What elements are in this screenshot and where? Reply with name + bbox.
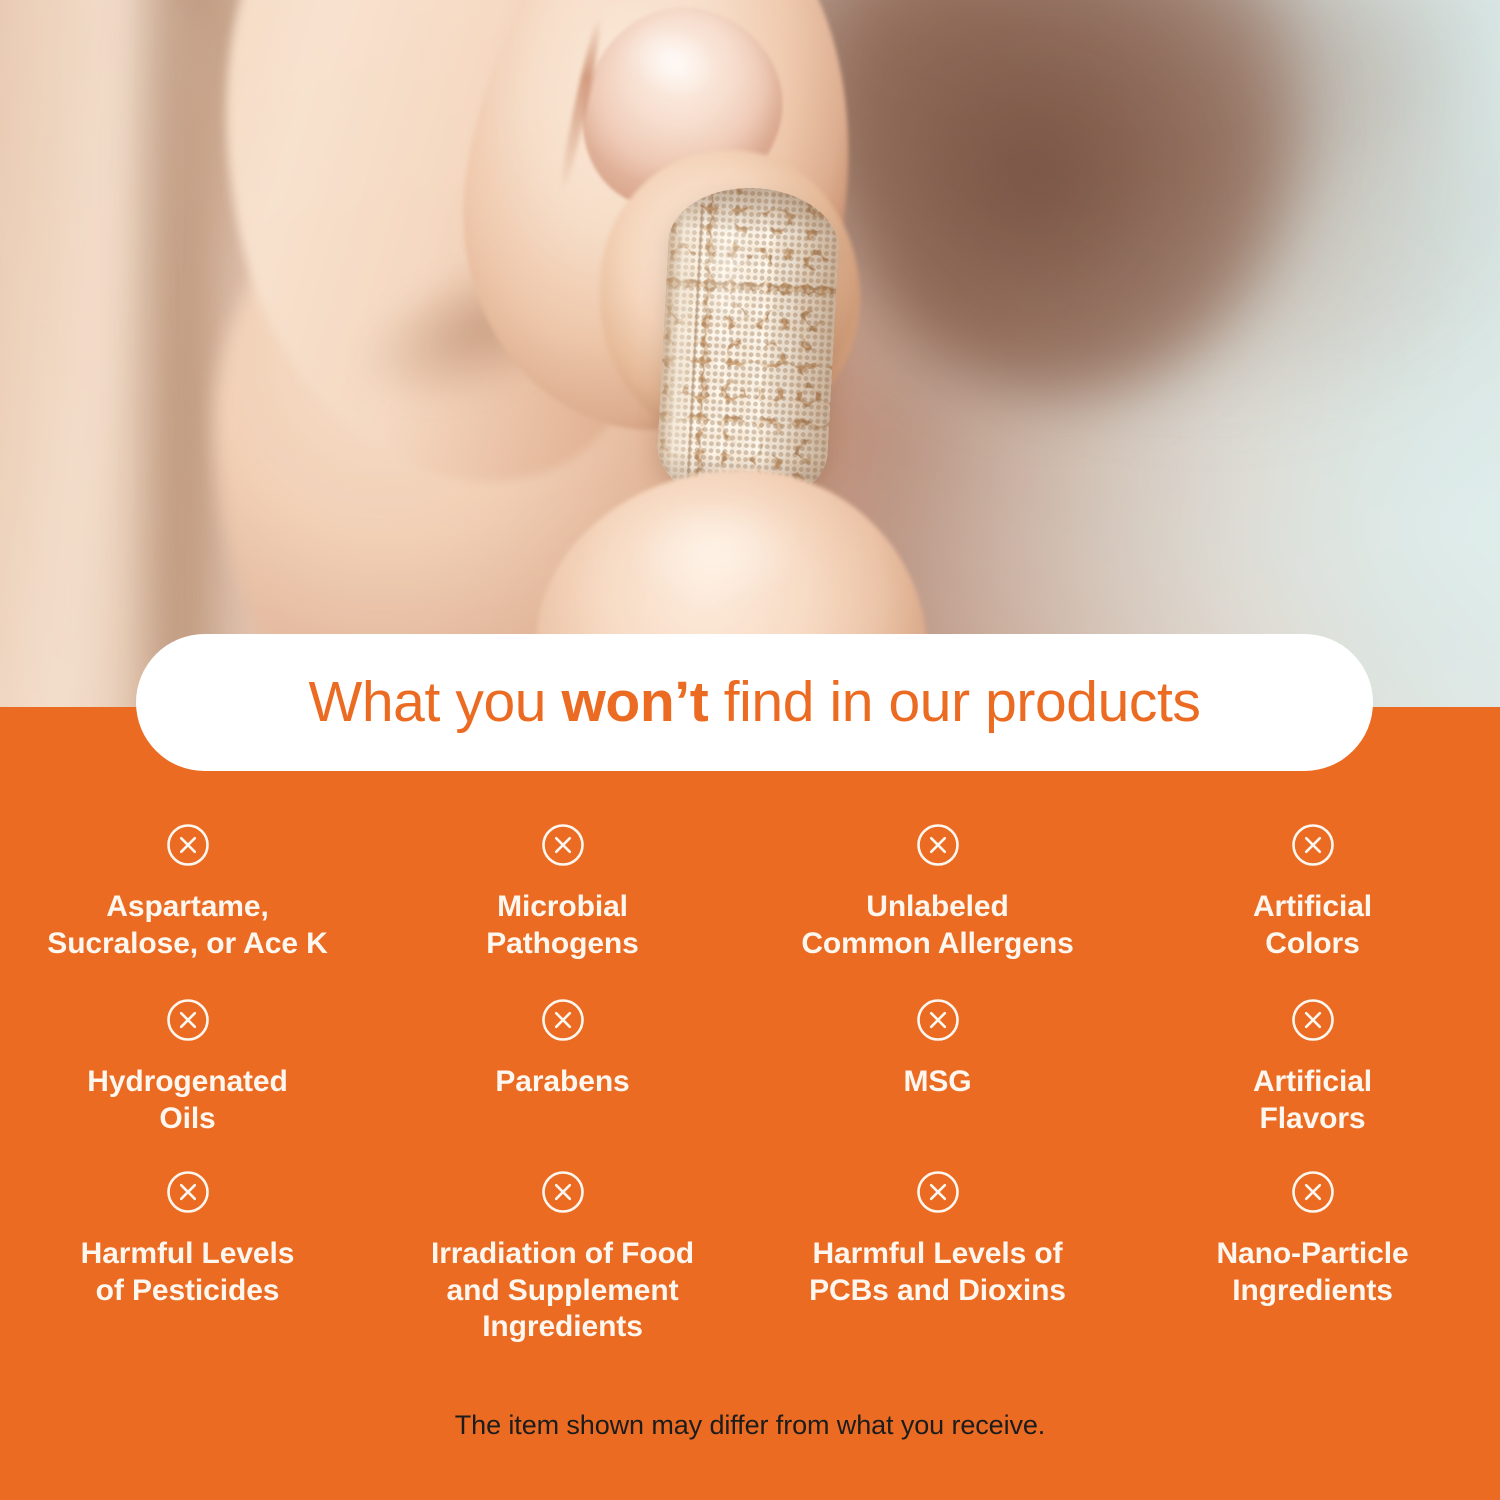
headline-card: What you won’t find in our products <box>136 634 1373 771</box>
page-title: What you won’t find in our products <box>308 674 1200 731</box>
circle-x-icon <box>166 1170 210 1214</box>
grid-cell-label: Parabens <box>495 1064 629 1101</box>
grid-cell-artificial-colors: Artificial Colors <box>1125 815 1500 990</box>
grid-row: Aspartame, Sucralose, or Ace K Microbial… <box>0 815 1500 990</box>
grid-cell-microbial-pathogens: Microbial Pathogens <box>375 815 750 990</box>
grid-row: Harmful Levels of Pesticides Irradiation… <box>0 1162 1500 1348</box>
circle-x-icon <box>1291 823 1335 867</box>
headline-emphasis: won’t <box>562 670 709 734</box>
circle-x-icon <box>916 998 960 1042</box>
grid-cell-irradiation: Irradiation of Food and Supplement Ingre… <box>375 1162 750 1348</box>
excluded-ingredients-grid: Aspartame, Sucralose, or Ace K Microbial… <box>0 815 1500 1348</box>
grid-cell-pcbs-dioxins: Harmful Levels of PCBs and Dioxins <box>750 1162 1125 1348</box>
grid-row: Hydrogenated Oils Parabens <box>0 990 1500 1162</box>
circle-x-icon <box>541 998 585 1042</box>
grid-cell-label: Microbial Pathogens <box>486 889 638 962</box>
headline-part-after: find in our products <box>708 670 1200 734</box>
grid-cell-label: Harmful Levels of Pesticides <box>81 1236 295 1309</box>
circle-x-icon <box>1291 1170 1335 1214</box>
hand <box>0 0 1500 712</box>
grid-cell-label: Aspartame, Sucralose, or Ace K <box>47 889 327 962</box>
circle-x-icon <box>1291 998 1335 1042</box>
circle-x-icon <box>541 823 585 867</box>
lower-finger-highlight <box>620 495 830 635</box>
product-photo <box>0 0 1500 712</box>
tablet-top-contact-shadow <box>669 184 841 237</box>
grid-cell-label: MSG <box>903 1064 971 1101</box>
grid-cell-msg: MSG <box>750 990 1125 1162</box>
product-infographic: What you won’t find in our products Aspa… <box>0 0 1500 1500</box>
disclaimer-text: The item shown may differ from what you … <box>455 1410 1045 1440</box>
footer: The item shown may differ from what you … <box>0 1410 1500 1441</box>
circle-x-icon <box>166 823 210 867</box>
grid-cell-unlabeled-allergens: Unlabeled Common Allergens <box>750 815 1125 990</box>
grid-cell-label: Unlabeled Common Allergens <box>801 889 1073 962</box>
grid-cell-label: Artificial Flavors <box>1253 1064 1372 1137</box>
grid-cell-label: Irradiation of Food and Supplement Ingre… <box>431 1236 694 1346</box>
supplement-tablet <box>655 184 841 510</box>
grid-cell-hydrogenated-oils: Hydrogenated Oils <box>0 990 375 1162</box>
circle-x-icon <box>541 1170 585 1214</box>
headline-part-before: What you <box>308 670 561 734</box>
grid-cell-label: Nano-Particle Ingredients <box>1216 1236 1408 1309</box>
grid-cell-parabens: Parabens <box>375 990 750 1162</box>
circle-x-icon <box>916 823 960 867</box>
grid-cell-label: Harmful Levels of PCBs and Dioxins <box>809 1236 1066 1309</box>
grid-cell-nano-particle: Nano-Particle Ingredients <box>1125 1162 1500 1348</box>
grid-cell-artificial-flavors: Artificial Flavors <box>1125 990 1500 1162</box>
grid-cell-label: Artificial Colors <box>1253 889 1372 962</box>
grid-cell-label: Hydrogenated Oils <box>87 1064 288 1137</box>
circle-x-icon <box>916 1170 960 1214</box>
grid-cell-aspartame: Aspartame, Sucralose, or Ace K <box>0 815 375 990</box>
circle-x-icon <box>166 998 210 1042</box>
grid-cell-pesticides: Harmful Levels of Pesticides <box>0 1162 375 1348</box>
